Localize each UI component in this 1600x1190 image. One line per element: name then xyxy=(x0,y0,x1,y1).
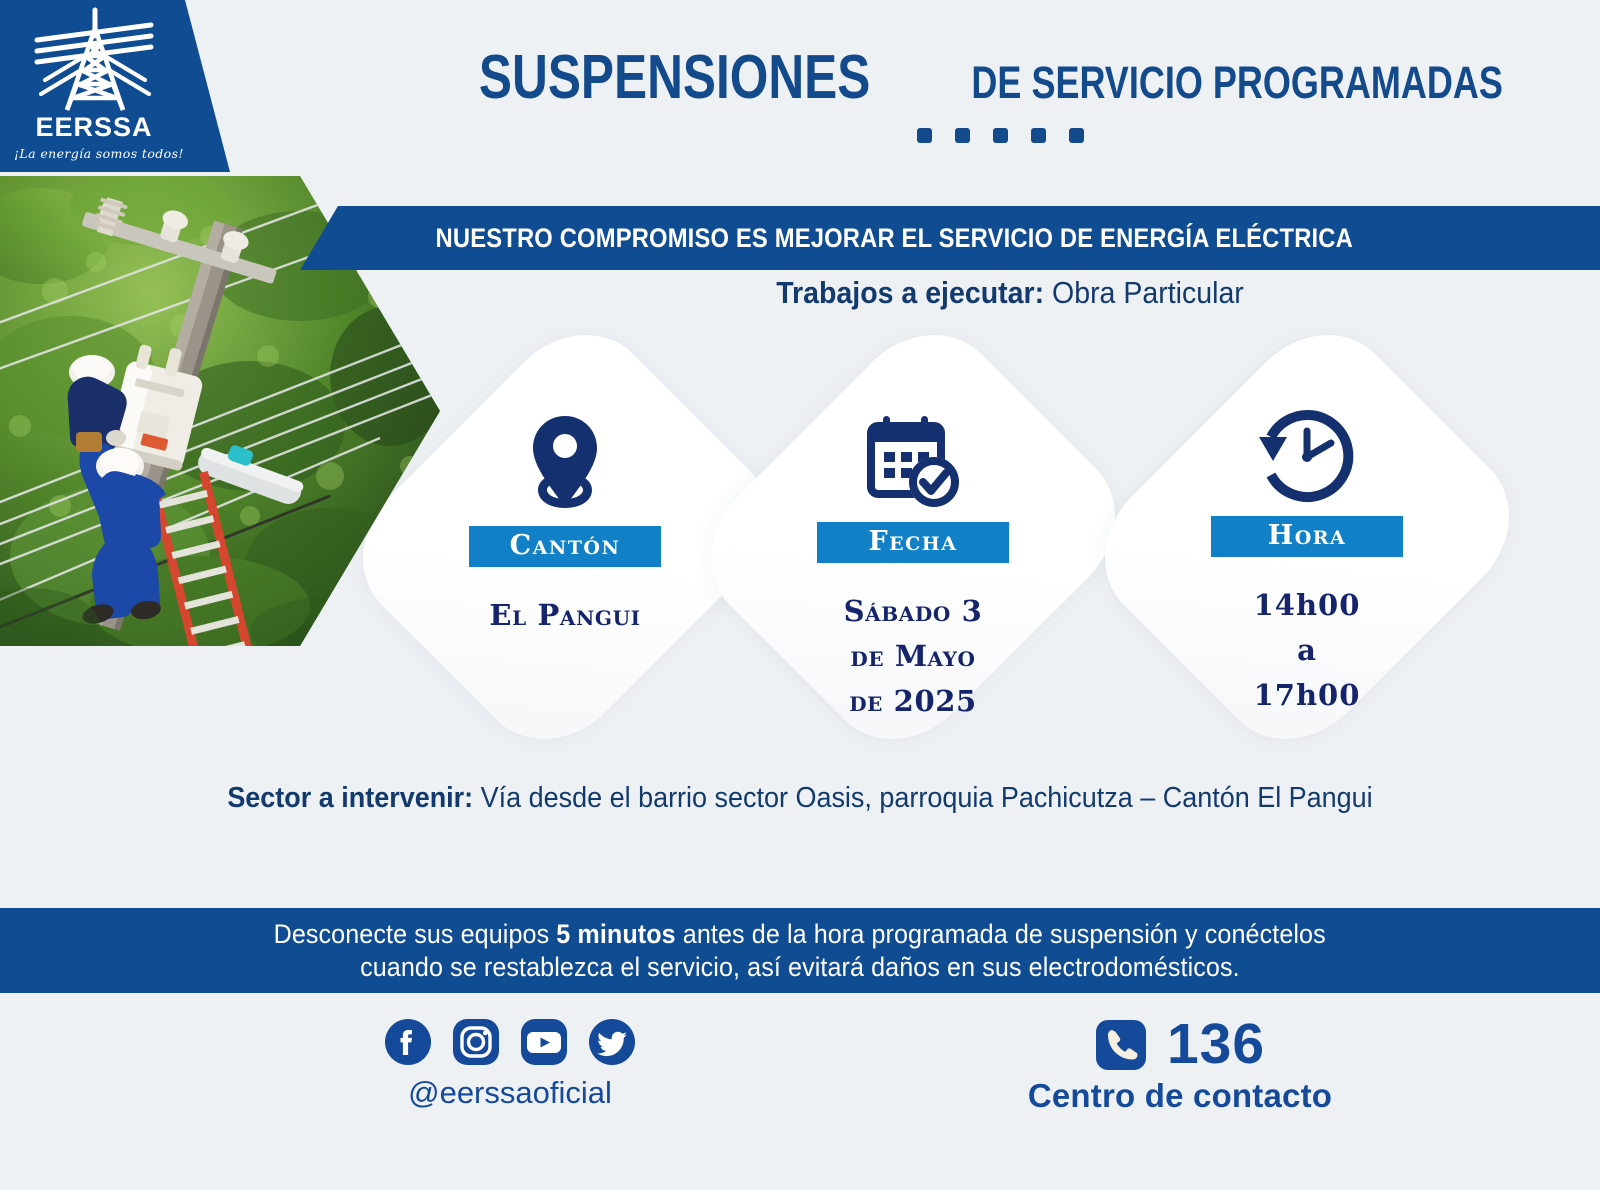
contact-caption: Centro de contacto xyxy=(1028,1077,1332,1115)
card-label-hora: Hora xyxy=(1211,516,1403,557)
logo-inner: EERSSA ¡La energía somos todos! xyxy=(14,6,174,168)
notice-highlight: 5 minutos xyxy=(557,919,676,949)
divider-dot xyxy=(917,128,932,143)
facebook-icon[interactable] xyxy=(384,1018,432,1066)
calendar-check-icon xyxy=(863,408,963,516)
sector-line: Sector a intervenir: Vía desde el barrio… xyxy=(112,782,1488,815)
poster-root: EERSSA ¡La energía somos todos! SUSPENSI… xyxy=(0,0,1600,1190)
card-label-canton: Cantón xyxy=(469,526,661,567)
card-value-canton: El Pangui xyxy=(489,593,640,638)
clock-rotate-icon xyxy=(1257,402,1357,510)
card-body: Hora 14h00 a 17h00 xyxy=(1112,362,1502,782)
contact-row: 136 xyxy=(1095,1016,1265,1073)
sector-value: Vía desde el barrio sector Oasis, parroq… xyxy=(481,782,1373,814)
works-line: Trabajos a ejecutar: Obra Particular xyxy=(486,275,1535,311)
card-value-fecha: Sábado 3 de Mayo de 2025 xyxy=(844,589,983,724)
notice-banner: Desconecte sus equipos 5 minutos antes d… xyxy=(0,908,1600,993)
map-pin-icon xyxy=(522,412,608,520)
card-value-hora: 14h00 a 17h00 xyxy=(1254,583,1361,718)
notice-line-1c: antes de la hora programada de suspensió… xyxy=(676,919,1326,949)
title-divider-dots xyxy=(420,128,1580,143)
page-title: SUSPENSIONESDE SERVICIO PROGRAMADAS xyxy=(420,42,1580,113)
social-icons xyxy=(384,1018,636,1066)
divider-dot xyxy=(993,128,1008,143)
divider-dot xyxy=(1069,128,1084,143)
phone-icon[interactable] xyxy=(1095,1019,1147,1071)
commitment-text: NUESTRO COMPROMISO ES MEJORAR EL SERVICI… xyxy=(435,223,1352,254)
social-block: @eerssaoficial xyxy=(330,1018,690,1111)
notice-line-1a: Desconecte sus equipos xyxy=(274,919,557,949)
page-title-strong: SUSPENSIONES xyxy=(479,42,870,113)
social-handle[interactable]: @eerssaoficial xyxy=(408,1075,612,1111)
sector-label: Sector a intervenir: xyxy=(227,782,473,814)
info-card-fecha: Fecha Sábado 3 de Mayo de 2025 xyxy=(718,362,1108,782)
info-cards: Cantón El Pangui xyxy=(370,362,1600,782)
contact-number: 136 xyxy=(1167,1016,1265,1073)
twitter-icon[interactable] xyxy=(588,1018,636,1066)
notice-line-1: Desconecte sus equipos 5 minutos antes d… xyxy=(274,919,1326,950)
instagram-icon[interactable] xyxy=(452,1018,500,1066)
card-body: Fecha Sábado 3 de Mayo de 2025 xyxy=(718,362,1108,782)
footer: @eerssaoficial 136 Centro de contacto xyxy=(0,1000,1600,1130)
divider-dot xyxy=(1031,128,1046,143)
card-label-fecha: Fecha xyxy=(817,522,1009,563)
divider-dot xyxy=(955,128,970,143)
transmission-tower-icon xyxy=(23,6,165,118)
logo-wordmark: EERSSA xyxy=(14,114,174,141)
youtube-icon[interactable] xyxy=(520,1018,568,1066)
notice-line-2: cuando se restablezca el servicio, así e… xyxy=(360,952,1240,983)
eerssa-logo-block: EERSSA ¡La energía somos todos! xyxy=(0,0,230,172)
works-label: Trabajos a ejecutar: xyxy=(776,275,1044,310)
works-value: Obra Particular xyxy=(1052,275,1244,310)
page-title-light: DE SERVICIO PROGRAMADAS xyxy=(972,57,1503,109)
logo-tagline: ¡La energía somos todos! xyxy=(14,146,174,161)
info-card-hora: Hora 14h00 a 17h00 xyxy=(1112,362,1502,782)
commitment-banner: NUESTRO COMPROMISO ES MEJORAR EL SERVICI… xyxy=(300,206,1600,270)
contact-block: 136 Centro de contacto xyxy=(960,1016,1400,1115)
